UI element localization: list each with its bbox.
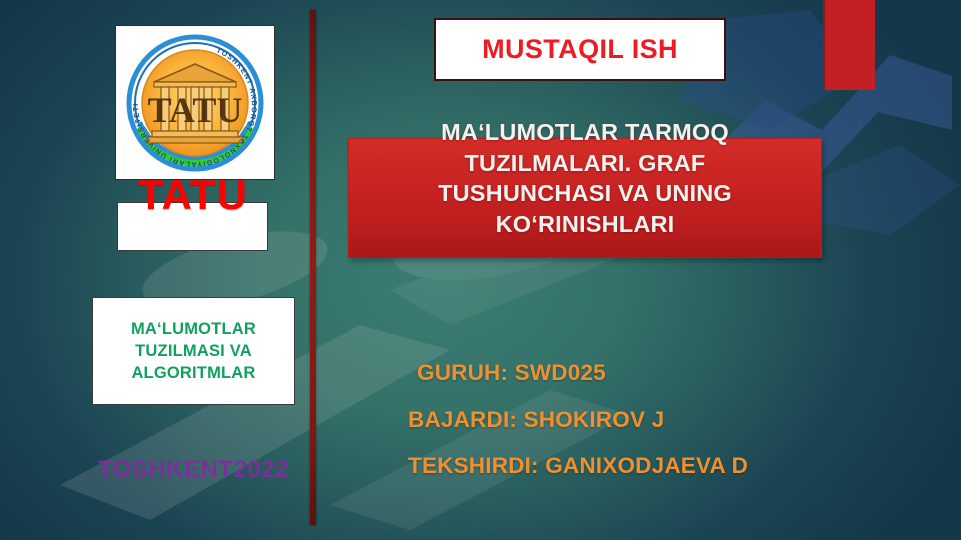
title-line-2: TUZILMALARI. GRAF [352,148,818,179]
credits-block: GURUH: SWD025 BAJARDI: SHOKIROV J TEKSHI… [408,362,878,478]
tatu-logo-box: TATU TOSHKENT AXBOROT TEXNOLOGIYALARI UN… [115,25,275,180]
city-year-text: TOSHKENT2022 [92,455,295,485]
tatu-logo-emblem: TATU TOSHKENT AXBOROT TEXNOLOGIYALARI UN… [120,30,270,176]
assignment-type-box: MUSTAQIL ISH [434,18,726,81]
svg-text:TATU: TATU [148,90,243,130]
credit-author: BAJARDI: SHOKIROV J [408,409,878,432]
vertical-divider [310,10,316,525]
subject-line-1: MA‘LUMOTLAR [131,318,256,340]
subject-name-text: MA‘LUMOTLAR TUZILMASI VA ALGORITMLAR [131,318,256,385]
decorative-red-bar [823,0,875,90]
presentation-slide: TATU TOSHKENT AXBOROT TEXNOLOGIYALARI UN… [0,0,961,540]
title-line-4: KO‘RINISHLARI [352,209,818,240]
title-line-3: TUSHUNCHASI VA UNING [352,178,818,209]
subject-line-2: TUZILMASI VA [131,340,256,362]
credit-reviewer: TEKSHIRDI: GANIXODJAEVA D [408,455,878,478]
subject-line-3: ALGORITMLAR [131,362,256,384]
assignment-type-label: MUSTAQIL ISH [482,34,678,65]
credit-group: GURUH: SWD025 [408,362,878,385]
presentation-title: MA‘LUMOTLAR TARMOQ TUZILMALARI. GRAF TUS… [352,117,818,239]
tatu-abbreviation-text: TATU [117,175,269,215]
title-line-1: MA‘LUMOTLAR TARMOQ [352,117,818,148]
subject-name-box: MA‘LUMOTLAR TUZILMASI VA ALGORITMLAR [92,297,295,405]
